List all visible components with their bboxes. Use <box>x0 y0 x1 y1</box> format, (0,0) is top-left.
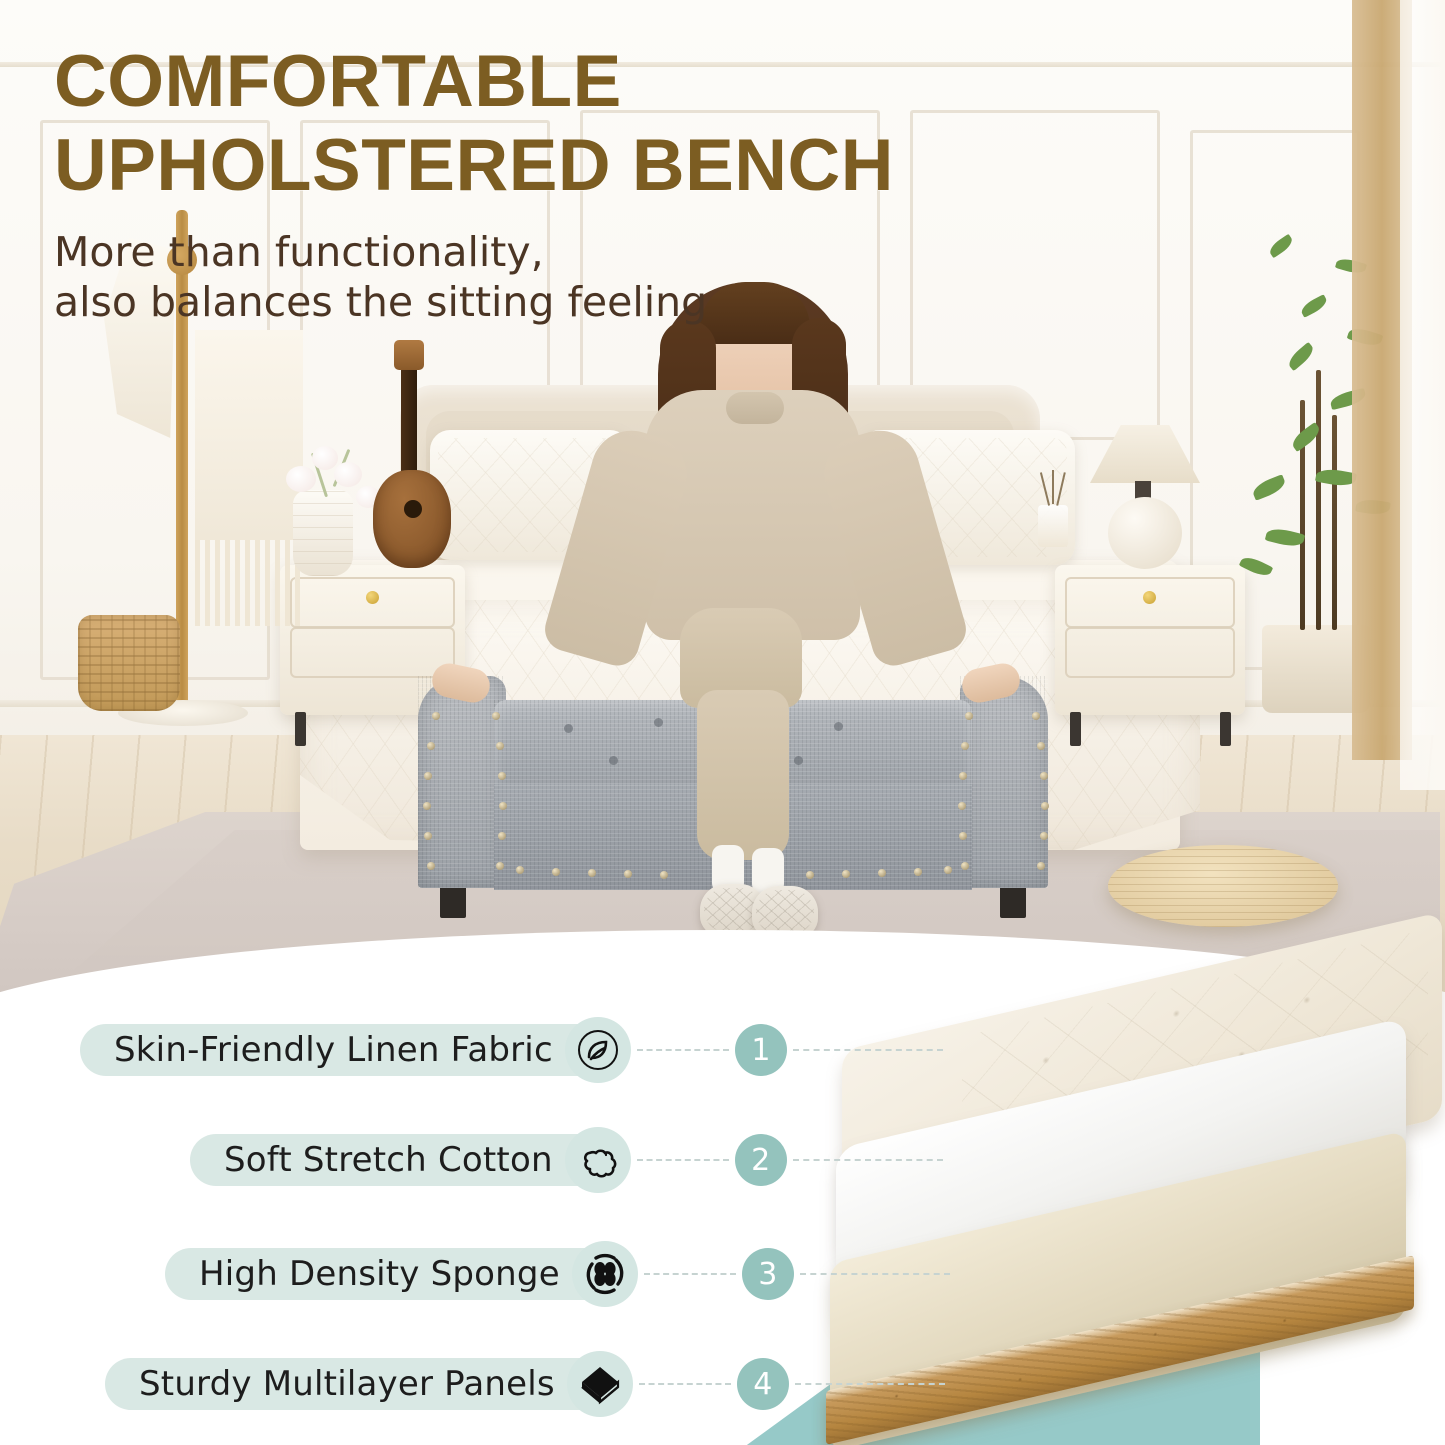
feature-number-2: 2 <box>735 1134 787 1186</box>
woman-torso <box>645 390 860 640</box>
feature-pill-2[interactable]: Soft Stretch Cotton <box>190 1134 609 1186</box>
headline-block: COMFORTABLE UPHOLSTERED BENCH More than … <box>54 46 1094 327</box>
nightstand-leg <box>295 712 306 746</box>
straw-pouf <box>1108 845 1338 927</box>
feature-pill-1[interactable]: Skin-Friendly Linen Fabric <box>80 1024 609 1076</box>
connector-line-4 <box>639 1383 731 1385</box>
drawer-knob <box>1143 591 1156 604</box>
feature-list: Skin-Friendly Linen Fabric 1 Soft Stretc… <box>0 1000 880 1430</box>
connector-line-4b <box>795 1383 945 1385</box>
bench-arm-right <box>960 676 1048 888</box>
woman-shin <box>697 690 789 860</box>
reed-diffuser <box>1038 505 1068 547</box>
subtitle-line-1: More than functionality, <box>54 227 1094 277</box>
drawer-knob <box>366 591 379 604</box>
subtitle-block: More than functionality, also balances t… <box>54 227 1094 327</box>
orchid-flower <box>334 462 362 487</box>
feature-label-3: High Density Sponge <box>199 1254 560 1294</box>
feature-row-2[interactable]: Soft Stretch Cotton 2 <box>190 1128 949 1192</box>
feature-number-1: 1 <box>735 1024 787 1076</box>
ukulele-body <box>373 470 451 568</box>
headline-line-1: COMFORTABLE <box>54 41 622 122</box>
cotton-cloud-icon <box>565 1127 631 1193</box>
nightstand-leg <box>1220 712 1231 746</box>
feature-number-4: 4 <box>737 1358 789 1410</box>
ukulele-headstock <box>394 340 424 370</box>
connector-line-1 <box>637 1049 729 1051</box>
macrame-fringe <box>195 540 303 626</box>
sponge-four-petal-icon <box>572 1241 638 1307</box>
macrame-throw <box>195 330 303 540</box>
table-lamp-base <box>1108 497 1182 569</box>
connector-line-2b <box>793 1159 943 1161</box>
feature-number-3: 3 <box>742 1248 794 1300</box>
connector-line-3b <box>800 1273 950 1275</box>
subtitle-line-2: also balances the sitting feeling <box>54 277 1094 327</box>
feature-label-1: Skin-Friendly Linen Fabric <box>114 1030 553 1070</box>
feature-label-2: Soft Stretch Cotton <box>224 1140 553 1180</box>
feature-pill-4[interactable]: Sturdy Multilayer Panels <box>105 1358 611 1410</box>
orchid-flower <box>286 466 316 492</box>
ceramic-vase <box>293 490 353 576</box>
ukulele-neck <box>401 360 417 478</box>
feature-label-4: Sturdy Multilayer Panels <box>139 1364 555 1404</box>
headline-line-2: UPHOLSTERED BENCH <box>54 130 1094 202</box>
board-diamond-icon <box>567 1351 633 1417</box>
ukulele-soundhole <box>404 500 422 518</box>
feature-row-4[interactable]: Sturdy Multilayer Panels 4 <box>105 1352 951 1416</box>
nightstand-right <box>1055 565 1245 715</box>
feature-row-3[interactable]: High Density Sponge 3 <box>165 1242 956 1306</box>
promo-image: COMFORTABLE UPHOLSTERED BENCH More than … <box>0 0 1445 1445</box>
woman-collar <box>726 392 784 424</box>
nightstand-leg <box>1070 712 1081 746</box>
feature-row-1[interactable]: Skin-Friendly Linen Fabric 1 <box>80 1018 949 1082</box>
connector-line-1b <box>793 1049 943 1051</box>
woven-basket <box>78 615 180 711</box>
leaf-icon <box>565 1017 631 1083</box>
connector-line-2 <box>637 1159 729 1161</box>
feature-pill-3[interactable]: High Density Sponge <box>165 1248 616 1300</box>
bench-arm-left <box>418 676 506 888</box>
orchid-flower <box>312 446 338 470</box>
sheer-curtain <box>1400 0 1445 790</box>
connector-line-3 <box>644 1273 736 1275</box>
headline-title: COMFORTABLE UPHOLSTERED BENCH <box>54 46 1094 201</box>
